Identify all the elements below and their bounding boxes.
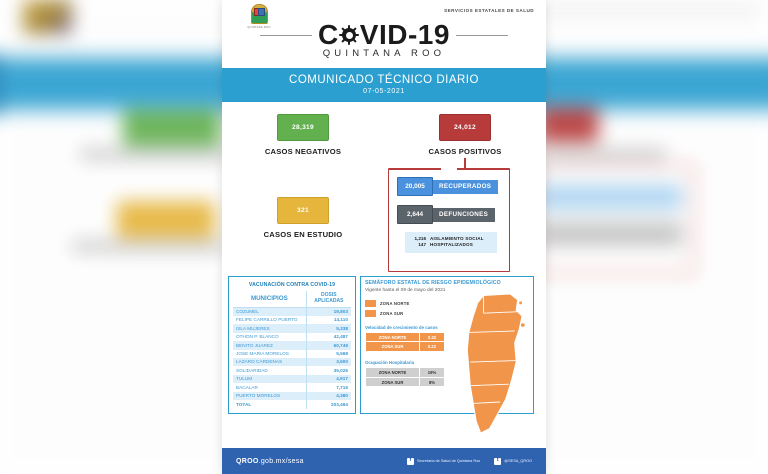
occupancy-zone: ZONA NORTE xyxy=(366,368,420,378)
growth-zone: ZONA SUR xyxy=(366,342,420,352)
deaths-label: DEFUNCIONES xyxy=(429,208,495,222)
occupancy-zone: ZONA SUR xyxy=(366,377,420,387)
municipio-name: LAZARO CARDENAS xyxy=(233,358,306,366)
municipio-name: BACALAR xyxy=(233,383,306,391)
municipio-name: TOTAL xyxy=(233,400,306,408)
website-url[interactable]: QROO.gob.mx/sesa xyxy=(236,458,304,465)
poster-header: QUINTANA ROO SERVICIOS ESTATALES DE SALU… xyxy=(222,0,546,68)
table-header-row: MUNICIPIOS DOSIS APLICADAS xyxy=(233,291,351,307)
facebook-icon: f xyxy=(407,458,414,465)
stat-in-study: 321 CASOS EN ESTUDIO xyxy=(222,197,384,239)
growth-zone: ZONA NORTE xyxy=(366,332,420,342)
municipio-name: OTHON P. BLANCO xyxy=(233,333,306,341)
virus-icon xyxy=(339,25,359,45)
deaths-value: 2,644 xyxy=(397,205,433,224)
hospitalized-value: 147 xyxy=(410,242,426,247)
table-row: TOTAL203,494 xyxy=(233,400,351,408)
municipio-doses: 4,917 xyxy=(306,375,351,383)
state-subtitle: QUINTANA ROO xyxy=(232,48,536,59)
negatives-label: CASOS NEGATIVOS xyxy=(222,147,384,156)
vaccination-panel: VACUNACIÓN CONTRA COVID-19 MUNICIPIOS DO… xyxy=(228,276,356,414)
facebook-link[interactable]: f Secretaría de Salud de Quintana Roo xyxy=(407,458,480,465)
municipio-doses: 35,026 xyxy=(306,366,351,374)
study-value: 321 xyxy=(277,197,329,224)
stat-deaths: 2,644 DEFUNCIONES xyxy=(397,205,509,224)
col-header-dosis: DOSIS APLICADAS xyxy=(306,291,351,307)
occupancy-value: 8% xyxy=(420,377,445,387)
poster-card: QUINTANA ROO SERVICIOS ESTATALES DE SALU… xyxy=(222,0,546,474)
occupancy-value: 19% xyxy=(420,368,445,378)
growth-table: ZONA NORTE 0.32 ZONA SUR 0.22 xyxy=(365,332,445,352)
table-row: ZONA SUR 0.22 xyxy=(366,342,445,352)
health-services-line: SERVICIOS ESTATALES DE SALUD xyxy=(444,8,534,13)
quintana-roo-crest-icon: QUINTANA ROO xyxy=(246,4,272,29)
municipio-doses: 19,803 xyxy=(306,307,351,316)
quintana-roo-map xyxy=(453,291,529,439)
municipio-doses: 14,110 xyxy=(306,316,351,324)
legend-swatch-icon xyxy=(365,300,376,307)
crest-label: QUINTANA ROO xyxy=(246,26,272,29)
positives-value: 24,012 xyxy=(439,114,491,141)
twitter-icon: t xyxy=(494,458,501,465)
covid-wordmark: C VID-19 xyxy=(318,21,450,49)
table-row: ZONA NORTE 19% xyxy=(366,368,445,378)
recovered-value: 20,005 xyxy=(397,177,433,196)
covid-suffix: VID-19 xyxy=(360,21,450,49)
url-path: .gob.mx/sesa xyxy=(259,458,304,465)
table-row: JOSE MARIA MORELOS5,568 xyxy=(233,350,351,358)
occupancy-table: ZONA NORTE 19% ZONA SUR 8% xyxy=(365,367,445,387)
social-links: f Secretaría de Salud de Quintana Roo t … xyxy=(407,458,532,465)
municipio-doses: 203,494 xyxy=(306,400,351,408)
stat-recovered: 20,005 RECUPERADOS xyxy=(397,177,509,196)
municipio-name: JOSE MARIA MORELOS xyxy=(233,350,306,358)
study-label: CASOS EN ESTUDIO xyxy=(222,230,384,239)
semaforo-title: SEMÁFORO ESTATAL DE RIESGO EPIDEMIOLÓGIC… xyxy=(365,280,529,286)
vaccination-title: VACUNACIÓN CONTRA COVID-19 xyxy=(233,280,351,291)
municipio-name: COZUMEL xyxy=(233,307,306,316)
twitter-link[interactable]: t @SESA_QROO xyxy=(494,458,532,465)
municipio-doses: 60,749 xyxy=(306,341,351,349)
facebook-handle: Secretaría de Salud de Quintana Roo xyxy=(417,459,480,464)
band-title: COMUNICADO TÉCNICO DIARIO xyxy=(222,74,546,86)
municipio-doses: 4,380 xyxy=(306,392,351,400)
rule-left xyxy=(260,35,312,36)
rule-right xyxy=(456,35,508,36)
isolation-label: AISLAMIENTO SOCIAL xyxy=(430,236,484,241)
positives-breakdown-frame: 20,005 RECUPERADOS 2,644 DEFUNCIONES 1,2… xyxy=(388,168,510,272)
municipio-doses: 3,600 xyxy=(306,358,351,366)
screenshot-root: QUINTANA ROO SERVICIOS ESTATALES DE SALU… xyxy=(0,0,768,474)
table-row: ZONA NORTE 0.32 xyxy=(366,332,445,342)
legend-swatch-icon xyxy=(365,310,376,317)
table-row: PUERTO MORELOS4,380 xyxy=(233,392,351,400)
active-cases-box: 1,216 AISLAMIENTO SOCIAL 147 HOSPITALIZA… xyxy=(405,232,497,253)
table-row: COZUMEL19,803 xyxy=(233,307,351,316)
table-row: LAZARO CARDENAS3,600 xyxy=(233,358,351,366)
stat-hospitalized: 147 HOSPITALIZADOS xyxy=(410,242,492,247)
positives-label: CASOS POSITIVOS xyxy=(384,147,546,156)
municipio-doses: 7,716 xyxy=(306,383,351,391)
table-row: SOLIDARIDAD35,026 xyxy=(233,366,351,374)
growth-value: 0.22 xyxy=(420,342,445,352)
municipio-name: FELIPE CARRILLO PUERTO xyxy=(233,316,306,324)
twitter-handle: @SESA_QROO xyxy=(504,459,532,464)
table-row: BACALAR7,716 xyxy=(233,383,351,391)
municipio-doses: 5,568 xyxy=(306,350,351,358)
table-row: FELIPE CARRILLO PUERTO14,110 xyxy=(233,316,351,324)
stat-negatives: 28,319 CASOS NEGATIVOS xyxy=(222,114,384,170)
isolation-value: 1,216 xyxy=(410,236,426,241)
negatives-value: 28,319 xyxy=(277,114,329,141)
legend-label: ZONA SUR xyxy=(380,311,403,316)
table-row: OTHON P. BLANCO42,487 xyxy=(233,333,351,341)
municipio-name: BENITO JUAREZ xyxy=(233,341,306,349)
growth-value: 0.32 xyxy=(420,332,445,342)
municipio-name: SOLIDARIDAD xyxy=(233,366,306,374)
title-band: COMUNICADO TÉCNICO DIARIO 07-05-2021 xyxy=(222,68,546,102)
table-row: ZONA SUR 8% xyxy=(366,377,445,387)
hospitalized-label: HOSPITALIZADOS xyxy=(430,242,473,247)
vaccination-table: MUNICIPIOS DOSIS APLICADAS COZUMEL19,803… xyxy=(233,291,351,409)
municipio-doses: 5,338 xyxy=(306,324,351,332)
poster-footer: QROO.gob.mx/sesa f Secretaría de Salud d… xyxy=(222,448,546,474)
stat-positives: 24,012 CASOS POSITIVOS xyxy=(384,114,546,170)
municipio-name: ISLA MUJERES xyxy=(233,324,306,332)
band-date: 07-05-2021 xyxy=(222,88,546,95)
legend-label: ZONA NORTE xyxy=(380,301,410,306)
brand-row: C VID-19 xyxy=(232,21,536,49)
municipio-name: PUERTO MORELOS xyxy=(233,392,306,400)
covid-prefix: C xyxy=(318,21,339,49)
municipio-doses: 42,487 xyxy=(306,333,351,341)
table-row: ISLA MUJERES5,338 xyxy=(233,324,351,332)
municipio-name: TULUM xyxy=(233,375,306,383)
semaforo-panel: SEMÁFORO ESTATAL DE RIESGO EPIDEMIOLÓGIC… xyxy=(360,276,534,414)
statistics-section: 28,319 CASOS NEGATIVOS 24,012 CASOS POSI… xyxy=(222,102,546,274)
stat-isolation: 1,216 AISLAMIENTO SOCIAL xyxy=(410,236,492,241)
col-header-municipio: MUNICIPIOS xyxy=(233,291,306,307)
recovered-label: RECUPERADOS xyxy=(429,180,498,194)
bottom-panels: VACUNACIÓN CONTRA COVID-19 MUNICIPIOS DO… xyxy=(222,276,546,414)
url-brand: QROO xyxy=(236,458,259,465)
table-row: TULUM4,917 xyxy=(233,375,351,383)
table-row: BENITO JUAREZ60,749 xyxy=(233,341,351,349)
